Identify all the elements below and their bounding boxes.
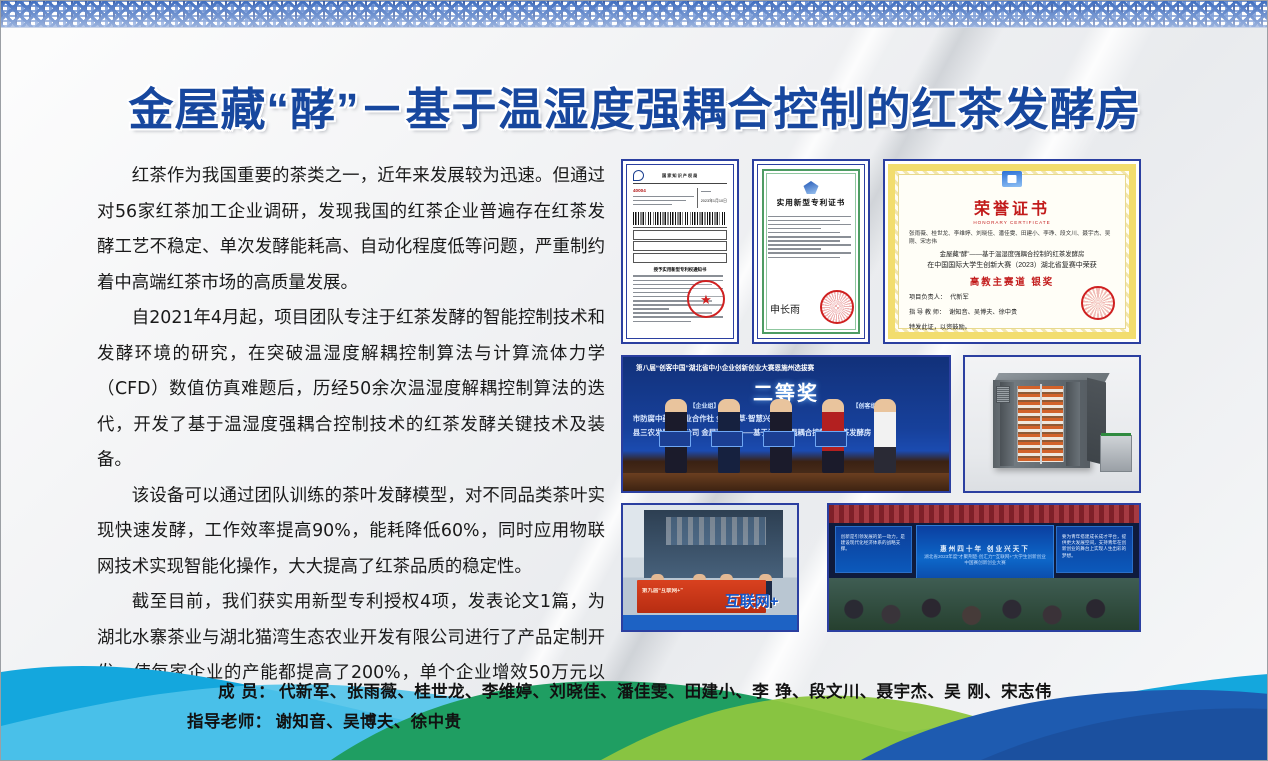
- panel-text-left: 创新是引领发展的第一动力，是建设现代化经济体系的战略支撑。: [841, 534, 906, 553]
- competition-banner: 第九届“互联网+” 互联网+: [637, 580, 766, 613]
- venue-building: [644, 510, 783, 578]
- stage-floor: [623, 473, 949, 491]
- credit-advisors-line: 指导老师：谢知音、吴博夫、徐中贵: [187, 708, 461, 732]
- control-cabinet: [1100, 435, 1132, 472]
- banner-internet-plus-mark: 互联网+: [725, 590, 779, 611]
- patent-notice-header: 国家知识产权局: [633, 170, 727, 184]
- hall-background: 创新是引领发展的第一动力，是建设现代化经济体系的战略支撑。 惠州四十年 创业兴天…: [829, 505, 1139, 630]
- advisors-value: 谢知音、吴博夫、徐中贵: [276, 712, 462, 731]
- patent-notice-docnumber: 40004: [633, 188, 697, 193]
- poster-canvas: 金屋藏“酵”－基于温湿度强耦合控制的红茶发酵房 红茶作为我国重要的茶类之一，近年…: [0, 0, 1268, 761]
- honor-advisor-value: 谢知音、吴博夫、徐中贵: [949, 309, 1017, 316]
- hall-audience: [829, 578, 1139, 631]
- award-event-header: 第八届“创客中国”湖北省中小企业创新创业大赛恩施州选拔赛: [636, 362, 936, 372]
- team-photo-background: 第九届“互联网+” 互联网+: [623, 505, 797, 630]
- honor-book-emblem-icon: [1002, 171, 1022, 187]
- honor-leader-value: 代新军: [950, 294, 969, 301]
- tray-rack-frame: [1040, 384, 1042, 464]
- honor-certificate-subtitle: HONORARY CERTIFICATE: [909, 220, 1115, 225]
- honor-certificate-page: 荣誉证书 HONORARY CERTIFICATE 张雨薇、桂世龙、李维婷、刘晓…: [888, 164, 1136, 339]
- cnipa-logo-icon: [633, 170, 644, 181]
- credit-members-line: 成 员：代新军、张雨薇、桂世龙、李维婷、刘晓佳、潘佳雯、田建小、李 琤、段文川、…: [1, 678, 1268, 702]
- hall-curtain: [829, 505, 1139, 523]
- honor-certificate-content: 荣誉证书 HONORARY CERTIFICATE 张雨薇、桂世龙、李维婷、刘晓…: [898, 174, 1126, 329]
- advisors-label: 指导老师：: [187, 712, 272, 731]
- award-plaque: [711, 431, 743, 447]
- award-ceremony-photo[interactable]: 第八届“创客中国”湖北省中小企业创新创业大赛恩施州选拔赛 二等奖 【企业组】 【…: [621, 355, 951, 493]
- patent-certificate-signature: 申长雨: [770, 301, 800, 316]
- credits-block: 成 员：代新军、张雨薇、桂世龙、李维婷、刘晓佳、潘佳雯、田建小、李 琤、段文川、…: [1, 678, 1268, 702]
- screen-title: 惠州四十年 创业兴天下: [917, 543, 1053, 553]
- patent-notice-page: 国家知识产权局 40004 2023年1月10日 授予实用新型专利权通知书: [626, 164, 734, 339]
- patent-certificate-page: 实用新型专利证书 申长雨: [757, 164, 865, 339]
- award-plaque: [659, 431, 691, 447]
- honor-certificate-image[interactable]: 荣誉证书 HONORARY CERTIFICATE 张雨薇、桂世龙、李维婷、刘晓…: [883, 159, 1141, 344]
- patent-notice-title: 授予实用新型专利权通知书: [633, 267, 727, 273]
- honor-red-seal-icon: [1081, 286, 1115, 320]
- person-figure: [874, 399, 896, 473]
- national-red-seal-icon: [820, 290, 854, 324]
- hall-side-panel-right: 要为青年搭建成长成才平台，提供更大发展空间，支持青年在创新创业的舞台上实现人生出…: [1056, 526, 1132, 573]
- patent-notice-issuer: 国家知识产权局: [662, 173, 698, 179]
- top-decorative-border: [1, 1, 1268, 28]
- award-plaque: [815, 431, 847, 447]
- patent-notice-image[interactable]: 国家知识产权局 40004 2023年1月10日 授予实用新型专利权通知书: [621, 159, 739, 344]
- patent-notice-date: 2023年1月10日: [701, 199, 727, 204]
- paragraph-performance: 该设备可以通过团队训练的茶叶发酵模型，对不同品类茶叶实现快速发酵，工作效率提高9…: [97, 479, 605, 586]
- members-label: 成 员：: [218, 682, 275, 701]
- panel-text-right: 要为青年搭建成长成才平台，提供更大发展空间，支持青年在创新创业的舞台上实现人生出…: [1062, 534, 1127, 560]
- honor-certificate-names: 张雨薇、桂世龙、李维婷、刘晓佳、潘佳雯、田建小、李琤、段文川、聂宇杰、吴刚、宋志…: [909, 230, 1115, 246]
- building-glass-facade: [666, 517, 766, 545]
- award-plaque: [763, 431, 795, 447]
- honor-certificate-event: 在中国国际大学生创新大赛（2023）湖北省复赛中荣获: [909, 260, 1115, 270]
- honor-certificate-closing: 特发此证，以资鼓励。: [909, 323, 1115, 333]
- patent-certificate-image[interactable]: 实用新型专利证书 申长雨: [752, 159, 870, 344]
- paragraph-research: 自2021年4月起，项目团队专注于红茶发酵的智能控制技术和发酵环境的研究，在突破…: [97, 301, 605, 479]
- hall-main-screen: 惠州四十年 创业兴天下 湖北省2023年度“才聚荆楚·创汇力”“互联网+”大学生…: [916, 525, 1054, 582]
- render-background: [965, 357, 1139, 491]
- members-value: 代新军、张雨薇、桂世龙、李维婷、刘晓佳、潘佳雯、田建小、李 琤、段文川、聂宇杰、…: [279, 682, 1052, 701]
- conference-hall-photo-image[interactable]: 创新是引领发展的第一动力，是建设现代化经济体系的战略支撑。 惠州四十年 创业兴天…: [827, 503, 1141, 632]
- page-title: 金屋藏“酵”－基于温湿度强耦合控制的红茶发酵房: [1, 73, 1268, 138]
- seal-star-icon: ★: [700, 293, 712, 306]
- ventilation-unit-icon: [996, 386, 1010, 403]
- foreground-stage-strip: [623, 615, 797, 630]
- patent-certificate-title: 实用新型专利证书: [758, 197, 864, 208]
- room-door-right: [1066, 382, 1080, 465]
- honor-leader-label: 项目负责人：: [909, 294, 946, 301]
- award-recipients-group: [623, 395, 949, 473]
- paragraph-problem: 红茶作为我国重要的茶类之一，近年来发展较为迅速。但通过对56家红茶加工企业调研，…: [97, 159, 605, 301]
- red-official-seal-icon: ★: [687, 280, 725, 318]
- fermentation-room-render-image[interactable]: [963, 355, 1141, 493]
- stage-backdrop: 第八届“创客中国”湖北省中小企业创新创业大赛恩施州选拔赛 二等奖 【企业组】 【…: [623, 357, 949, 491]
- team-photo-image[interactable]: 第九届“互联网+” 互联网+: [621, 503, 799, 632]
- patent-certificate-fields: [768, 213, 854, 261]
- border-fade-overlay: [1, 1, 1268, 27]
- hall-side-panel-left: 创新是引领发展的第一动力，是建设现代化经济体系的战略支撑。: [835, 526, 911, 573]
- honor-advisor-label: 指 导 教 师：: [909, 309, 945, 316]
- screen-subtitle: 湖北省2023年度“才聚荆楚·创汇力”“互联网+”大学生创新创业中国赛创新创业大…: [922, 554, 1047, 566]
- barcode-icon: [633, 212, 727, 225]
- honor-certificate-award: 高教主赛道 银奖: [909, 274, 1115, 288]
- honor-certificate-project: 金屋藏“酵”——基于温湿度强耦合控制的红茶发酵房: [909, 249, 1115, 258]
- honor-certificate-title: 荣誉证书: [909, 195, 1115, 219]
